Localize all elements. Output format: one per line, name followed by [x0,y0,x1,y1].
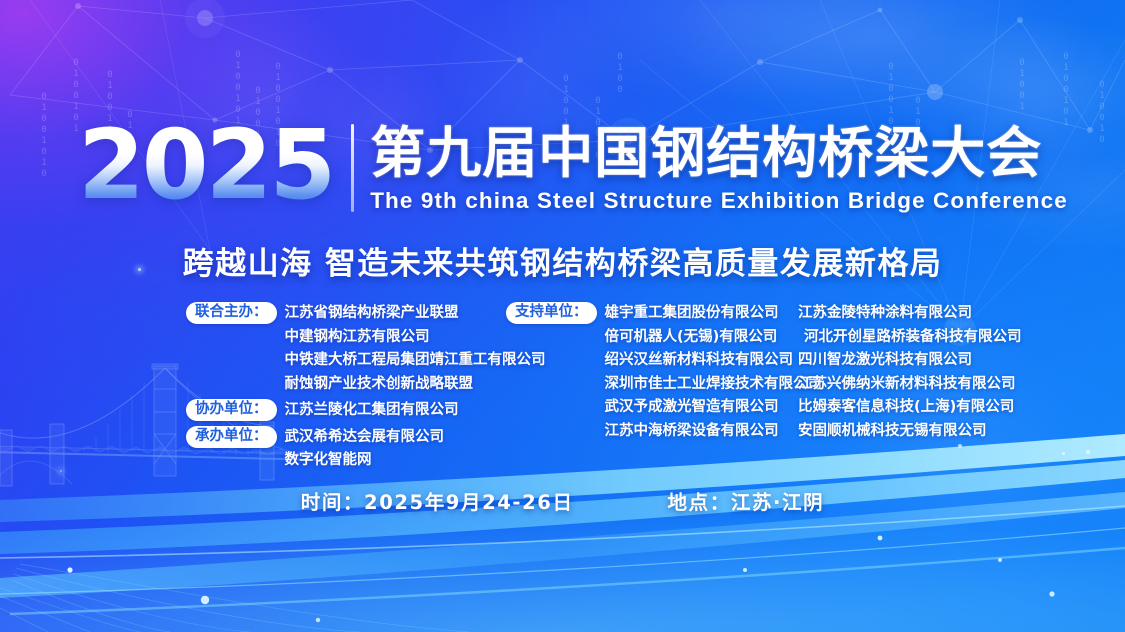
organizer-group-co-organizer: 协办单位： 江苏兰陵化工集团有限公司 [186,399,546,423]
organizer-section: 联合主办： 江苏省钢结构桥梁产业联盟 中建钢构江苏有限公司 中铁建大桥工程局集团… [0,302,1125,452]
supporter-entries: 雄宇重工集团股份有限公司 倍可机器人(无锡)有限公司 绍兴汉丝新材料科技有限公司… [605,302,823,443]
organizer-group-supporters: 支持单位： 雄宇重工集团股份有限公司 倍可机器人(无锡)有限公司 绍兴汉丝新材料… [506,302,822,443]
supporter-entry: 四川智龙激光科技有限公司 [798,349,1022,373]
supporter-entry: 雄宇重工集团股份有限公司 [605,302,823,326]
title-block: 2025 第九届中国钢结构桥梁大会 The 9th china Steel St… [78,122,1068,214]
conference-title-cn: 第九届中国钢结构桥梁大会 [370,122,1068,184]
organizer-entries: 江苏兰陵化工集团有限公司 [285,399,459,423]
title-texts: 第九届中国钢结构桥梁大会 The 9th china Steel Structu… [370,122,1068,214]
organizer-entry: 数字化智能网 [285,449,445,473]
supporter-entry: 倍可机器人(无锡)有限公司 [605,326,823,350]
supporter-entry: 比姆泰客信息科技(上海)有限公司 [798,396,1022,420]
supporter-entry: 深圳市佳士工业焊接技术有限公司 [605,373,823,397]
supporter-entry: 江苏兴佛纳米新材料科技有限公司 [798,373,1022,397]
organizer-entry: 江苏兰陵化工集团有限公司 [285,399,459,423]
supporter-entry: 安固顺机械科技无锡有限公司 [798,420,1022,444]
conference-slogan: 跨越山海 智造未来共筑钢结构桥梁高质量发展新格局 [0,238,1125,283]
conference-banner: 01001010 0100101 010010 01001 0100101 01… [0,0,1125,632]
event-footer: 时间：2025年9月24-26日 地点：江苏·江阴 [0,486,1125,515]
year-2025: 2025 [78,122,333,206]
organizer-entries: 武汉希希达会展有限公司 数字化智能网 [285,426,445,473]
organizer-column-right: 江苏金陵特种涂料有限公司 河北开创星路桥装备科技有限公司 四川智龙激光科技有限公… [798,302,1022,446]
banner-content: 2025 第九届中国钢结构桥梁大会 The 9th china Steel St… [0,0,1125,632]
title-divider [351,124,354,212]
organizer-column-left: 联合主办： 江苏省钢结构桥梁产业联盟 中建钢构江苏有限公司 中铁建大桥工程局集团… [186,302,546,476]
event-date: 时间：2025年9月24-26日 [301,486,574,515]
conference-title-en: The 9th china Steel Structure Exhibition… [370,188,1068,214]
organizer-group-co-host: 联合主办： 江苏省钢结构桥梁产业联盟 中建钢构江苏有限公司 中铁建大桥工程局集团… [186,302,546,396]
organizer-group-supporters-cont: 江苏金陵特种涂料有限公司 河北开创星路桥装备科技有限公司 四川智龙激光科技有限公… [798,302,1022,443]
organizer-group-host: 承办单位： 武汉希希达会展有限公司 数字化智能网 [186,426,546,473]
supporter-entry: 武汉予成激光智造有限公司 [605,396,823,420]
label-pill-supporter: 支持单位： [506,302,597,324]
event-location: 地点：江苏·江阴 [668,486,825,515]
organizer-entry: 武汉希希达会展有限公司 [285,426,445,450]
supporter-entry: 河北开创星路桥装备科技有限公司 [798,326,1022,350]
supporter-entry: 绍兴汉丝新材料科技有限公司 [605,349,823,373]
supporter-entry: 江苏中海桥梁设备有限公司 [605,420,823,444]
label-pill-host: 承办单位： [186,426,277,448]
supporter-entry: 江苏金陵特种涂料有限公司 [798,302,1022,326]
organizer-column-middle: 支持单位： 雄宇重工集团股份有限公司 倍可机器人(无锡)有限公司 绍兴汉丝新材料… [506,302,822,446]
supporter-entries-continued: 江苏金陵特种涂料有限公司 河北开创星路桥装备科技有限公司 四川智龙激光科技有限公… [798,302,1022,443]
label-pill-co-host: 联合主办： [186,302,277,324]
label-pill-co-organizer: 协办单位： [186,399,277,421]
